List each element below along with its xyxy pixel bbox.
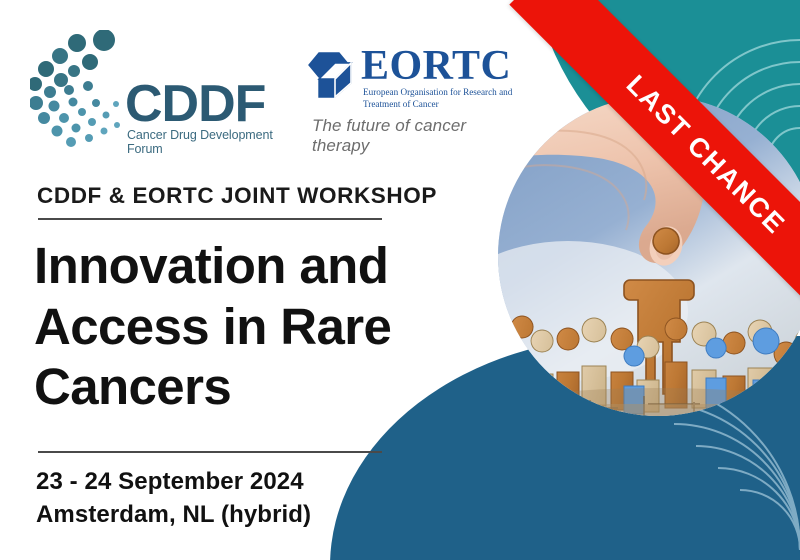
eortc-tagline: The future of cancer therapy (312, 116, 520, 156)
eortc-subtitle: European Organisation for Research and T… (363, 87, 525, 111)
divider-top (38, 218, 382, 220)
eortc-logo: EORTC European Organisation for Research… (305, 45, 520, 150)
event-date: 23 - 24 September 2024 (36, 466, 311, 498)
page-title: Innovation and Access in Rare Cancers (34, 236, 464, 418)
eortc-cube-hexagon-icon (305, 49, 357, 101)
event-poster: LAST CHANCE (0, 0, 800, 560)
event-meta: 23 - 24 September 2024 Amsterdam, NL (hy… (36, 466, 311, 531)
cddf-wordmark: CDDF (125, 78, 265, 130)
cddf-subtitle: Cancer Drug Development Forum (127, 128, 280, 156)
workshop-kicker: CDDF & EORTC JOINT WORKSHOP (37, 183, 437, 209)
divider-bottom (38, 451, 382, 453)
event-location: Amsterdam, NL (hybrid) (36, 499, 311, 531)
cddf-logo: CDDF Cancer Drug Development Forum (30, 30, 280, 150)
eortc-wordmark: EORTC (361, 45, 511, 87)
cddf-dot-swirl-icon (30, 30, 130, 150)
